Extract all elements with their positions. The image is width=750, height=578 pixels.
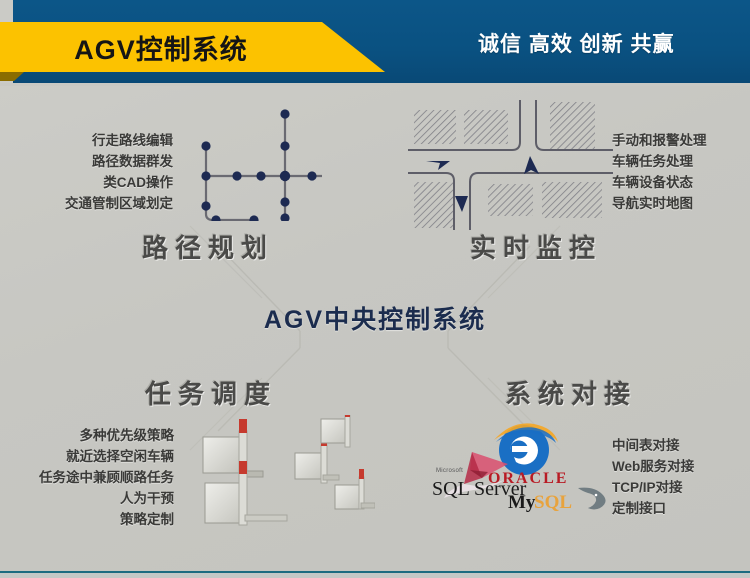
mysql-logo: My SQL	[508, 486, 618, 516]
feature-list-task-scheduling: 多种优先级策略 就近选择空闲车辆 任务途中兼顾顺路任务 人为干预 策略定制	[0, 425, 174, 530]
sql-server-vendor-label: Microsoft	[436, 468, 463, 474]
svg-text:My: My	[508, 492, 536, 513]
feature-list-path-planning: 行走路线编辑 路径数据群发 类CAD操作 交通管制区域划定	[0, 130, 173, 214]
list-item: 人为干预	[0, 488, 174, 509]
feature-list-system-integration: 中间表对接 Web服务对接 TCP/IP对接 定制接口	[612, 435, 750, 519]
list-item: 任务途中兼顾顺路任务	[0, 467, 174, 488]
section-title-task-scheduling: 任务调度	[145, 374, 277, 411]
list-item: 中间表对接	[612, 435, 750, 456]
svg-text:SQL: SQL	[534, 492, 572, 513]
list-item: 多种优先级策略	[0, 425, 174, 446]
list-item: 车辆任务处理	[612, 151, 750, 172]
agv-control-system-infographic: AGV控制系统 诚信 高效 创新 共赢	[0, 0, 750, 578]
page-header: AGV控制系统 诚信 高效 创新 共赢	[0, 0, 750, 86]
list-item: 行走路线编辑	[0, 130, 173, 151]
task-scheduling-illustration	[195, 415, 375, 540]
list-item: 就近选择空闲车辆	[0, 446, 174, 467]
path-planning-illustration	[192, 106, 337, 221]
list-item: 路径数据群发	[0, 151, 173, 172]
section-title-system-integration: 系统对接	[505, 374, 637, 411]
system-integration-illustration: Microsoft SQL Server ORACLE My SQL	[430, 412, 620, 537]
list-item: TCP/IP对接	[612, 477, 750, 498]
page-title: AGV控制系统	[0, 22, 322, 72]
section-title-path-planning: 路径规划	[142, 228, 274, 265]
list-item: 类CAD操作	[0, 172, 173, 193]
feature-list-realtime-monitoring: 手动和报警处理 车辆任务处理 车辆设备状态 导航实时地图	[612, 130, 750, 214]
list-item: 交通管制区域划定	[0, 193, 173, 214]
center-system-title: AGV中央控制系统	[0, 300, 750, 336]
list-item: 导航实时地图	[612, 193, 750, 214]
list-item: Web服务对接	[612, 456, 750, 477]
bottom-gray-rule	[0, 573, 750, 578]
list-item: 策略定制	[0, 509, 174, 530]
list-item: 手动和报警处理	[612, 130, 750, 151]
company-slogan: 诚信 高效 创新 共赢	[478, 28, 675, 58]
section-title-realtime-monitoring: 实时监控	[470, 228, 602, 265]
list-item: 车辆设备状态	[612, 172, 750, 193]
list-item: 定制接口	[612, 498, 750, 519]
realtime-monitoring-illustration	[408, 100, 613, 230]
